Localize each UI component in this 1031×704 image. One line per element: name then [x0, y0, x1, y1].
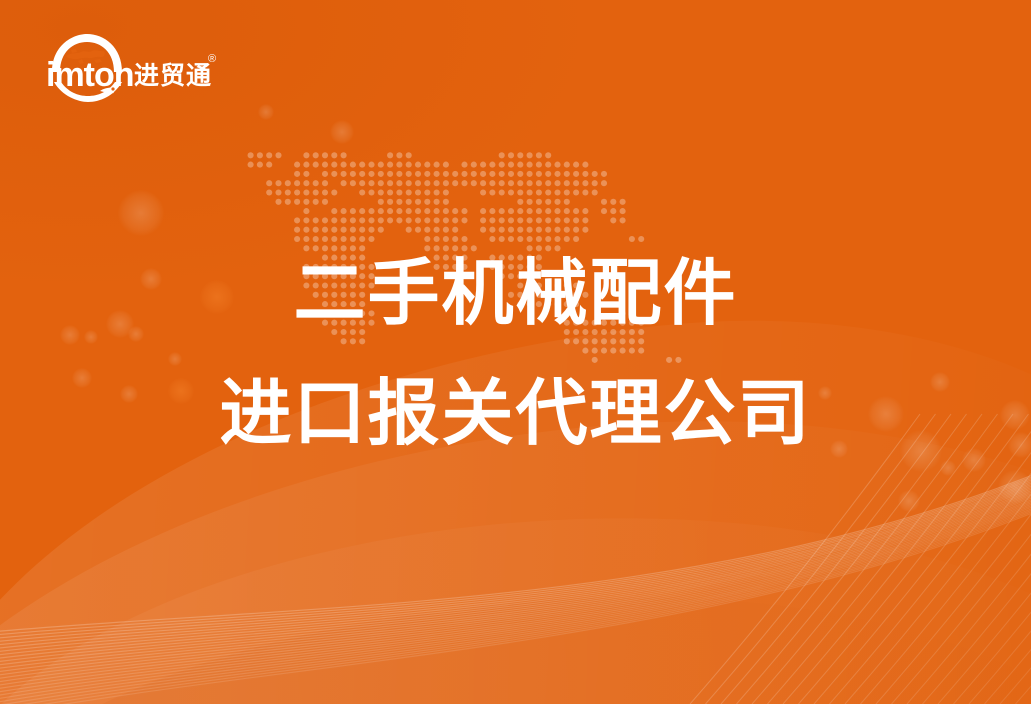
logo-chinese-name: 进贸通 — [134, 62, 212, 90]
logo-wordmark: imton — [46, 56, 134, 94]
headline-line-1: 二手机械配件 — [0, 258, 1031, 330]
promotional-banner: imton 进贸通 ® 二手机械配件 进口报关代理公司 — [0, 0, 1031, 704]
logo-trademark: ® — [208, 53, 216, 65]
headline-block: 二手机械配件 进口报关代理公司 — [0, 258, 1031, 450]
headline-line-2: 进口报关代理公司 — [0, 378, 1031, 450]
company-logo[interactable]: imton 进贸通 ® — [42, 30, 222, 104]
